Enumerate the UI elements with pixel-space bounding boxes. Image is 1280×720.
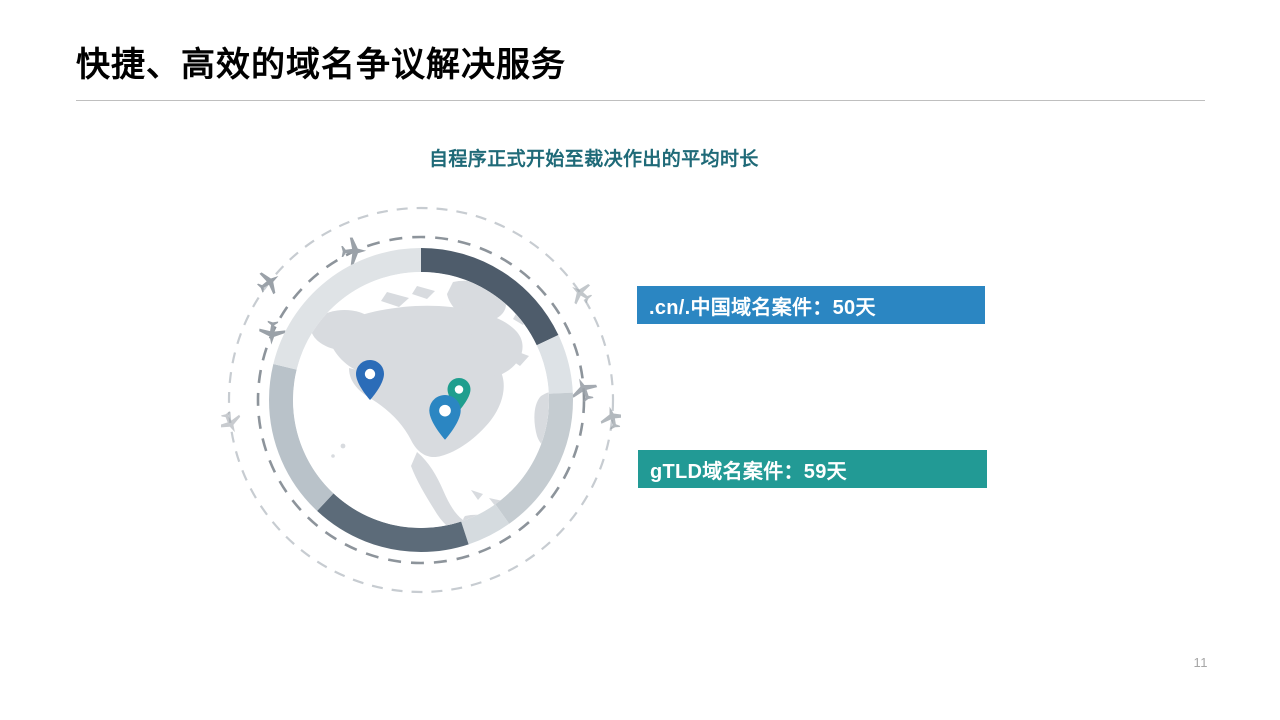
title-divider [76, 100, 1205, 101]
page-number: 11 [1194, 655, 1209, 670]
page-title: 快捷、高效的域名争议解决服务 [76, 46, 566, 85]
callout-gtld-label: gTLD域名案件：59天 [650, 455, 847, 484]
callout-cn-domain-cases: .cn/.中国域名案件：50天 [637, 286, 985, 324]
airplane-icon-4 [221, 408, 245, 438]
callout-cn-label: .cn/.中国域名案件：50天 [649, 291, 876, 320]
airplane-icon-6 [598, 403, 621, 431]
globe-graphic [221, 200, 621, 600]
airplane-icon-5 [565, 277, 596, 308]
callout-gtld-domain-cases: gTLD域名案件：59天 [638, 450, 987, 488]
slide-root: 快捷、高效的域名争议解决服务 自程序正式开始至裁决作出的平均时长 [0, 0, 1280, 720]
chart-subtitle: 自程序正式开始至裁决作出的平均时长 [429, 144, 759, 171]
